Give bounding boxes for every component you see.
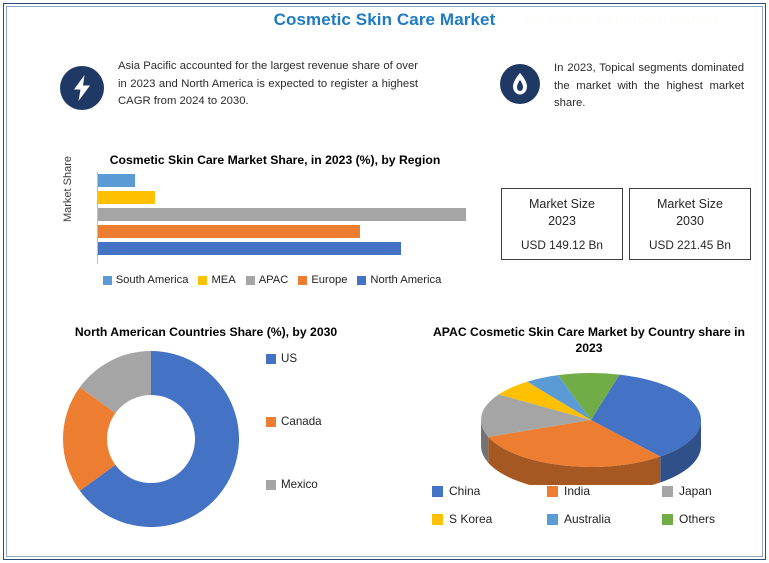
callout-text: In 2023, Topical segments dominated the … — [554, 60, 744, 113]
legend-swatch — [547, 486, 558, 497]
chart-title: North American Countries Share (%), by 2… — [46, 324, 366, 340]
legend-swatch — [547, 514, 558, 525]
legend-swatch — [198, 276, 207, 285]
legend-item-mea: MEA — [198, 274, 235, 286]
market-size-year: 2023 — [548, 213, 576, 229]
legend-label: India — [564, 484, 590, 498]
callout-topical-segment: In 2023, Topical segments dominated the … — [500, 60, 755, 113]
apac-pie-chart: APAC Cosmetic Skin Care Market by Countr… — [414, 324, 764, 554]
legend-label: US — [281, 352, 297, 365]
legend-swatch — [246, 276, 255, 285]
pie-top-faces — [481, 373, 701, 467]
legend-swatch — [662, 486, 673, 497]
region-share-bar-chart: Cosmetic Skin Care Market Share, in 2023… — [55, 152, 475, 310]
legend-swatch — [266, 417, 276, 427]
legend-item-china: China — [432, 484, 547, 498]
bar-mea — [98, 191, 155, 204]
legend-label: Australia — [564, 512, 611, 526]
legend-swatch — [266, 354, 276, 364]
legend-swatch — [432, 486, 443, 497]
legend-swatch — [357, 276, 366, 285]
north-america-donut-chart: North American Countries Share (%), by 2… — [38, 324, 398, 554]
bar-chart-legend: South AmericaMEAAPACEuropeNorth America — [69, 274, 475, 286]
chart-title: APAC Cosmetic Skin Care Market by Countr… — [424, 324, 754, 357]
pie-chart-legend: ChinaIndiaJapanS KoreaAustraliaOthers — [432, 484, 762, 526]
legend-item-australia: Australia — [547, 512, 662, 526]
y-axis-title: Market Share — [62, 149, 80, 229]
legend-item-north-america: North America — [357, 274, 441, 286]
infographic-canvas: Cosmetic Skin Care Market Cosmetic Skin … — [0, 0, 769, 563]
legend-label: S Korea — [449, 512, 492, 526]
legend-swatch — [266, 480, 276, 490]
bar-row — [98, 225, 468, 238]
bar-apac — [98, 208, 466, 221]
market-size-box-2030: Market Size 2030 USD 221.45 Bn — [629, 188, 751, 260]
legend-item-us: US — [266, 352, 386, 415]
lightning-bolt-icon — [60, 66, 104, 110]
bar-row — [98, 242, 468, 255]
market-size-label: Market Size — [657, 196, 723, 212]
bar-plot-area: Market Share — [55, 172, 475, 264]
market-size-value: USD 221.45 Bn — [649, 238, 731, 252]
legend-label: South America — [116, 274, 189, 286]
market-size-label: Market Size — [529, 196, 595, 212]
bar-series — [98, 174, 468, 255]
donut-plot-area: USCanadaMexico — [38, 346, 398, 532]
legend-swatch — [298, 276, 307, 285]
bar-north-america — [98, 242, 401, 255]
market-size-box-2023: Market Size 2023 USD 149.12 Bn — [501, 188, 623, 260]
legend-label: Europe — [311, 274, 347, 286]
legend-item-south-america: South America — [103, 274, 189, 286]
pie-plot-area — [414, 365, 764, 485]
legend-item-india: India — [547, 484, 662, 498]
bar-south-america — [98, 174, 135, 187]
legend-label: Others — [679, 512, 715, 526]
legend-swatch — [432, 514, 443, 525]
callout-text: Asia Pacific accounted for the largest r… — [118, 58, 418, 111]
legend-item-canada: Canada — [266, 415, 386, 478]
legend-item-others: Others — [662, 512, 762, 526]
legend-label: Japan — [679, 484, 712, 498]
market-size-value: USD 149.12 Bn — [521, 238, 603, 252]
chart-title: Cosmetic Skin Care Market Share, in 2023… — [75, 152, 475, 168]
legend-label: Mexico — [281, 478, 318, 491]
donut-svg — [56, 346, 246, 532]
legend-swatch — [662, 514, 673, 525]
legend-item-europe: Europe — [298, 274, 347, 286]
legend-label: North America — [370, 274, 441, 286]
legend-item-mexico: Mexico — [266, 478, 386, 541]
flame-drop-icon — [500, 64, 540, 104]
legend-item-apac: APAC — [246, 274, 289, 286]
market-size-year: 2030 — [676, 213, 704, 229]
legend-label: APAC — [259, 274, 289, 286]
bar-row — [98, 174, 468, 187]
donut-chart-legend: USCanadaMexico — [266, 352, 386, 541]
legend-label: China — [449, 484, 480, 498]
bar-europe — [98, 225, 360, 238]
bar-row — [98, 208, 468, 221]
market-size-boxes: Market Size 2023 USD 149.12 Bn Market Si… — [501, 188, 751, 260]
legend-label: MEA — [211, 274, 235, 286]
legend-swatch — [103, 276, 112, 285]
pie-3d-svg — [466, 365, 716, 485]
legend-item-s-korea: S Korea — [432, 512, 547, 526]
bar-row — [98, 191, 468, 204]
legend-label: Canada — [281, 415, 322, 428]
title-watermark: Cosmetic Skin Care Market — [525, 12, 755, 29]
legend-item-japan: Japan — [662, 484, 762, 498]
callout-asia-pacific: Asia Pacific accounted for the largest r… — [60, 58, 460, 111]
